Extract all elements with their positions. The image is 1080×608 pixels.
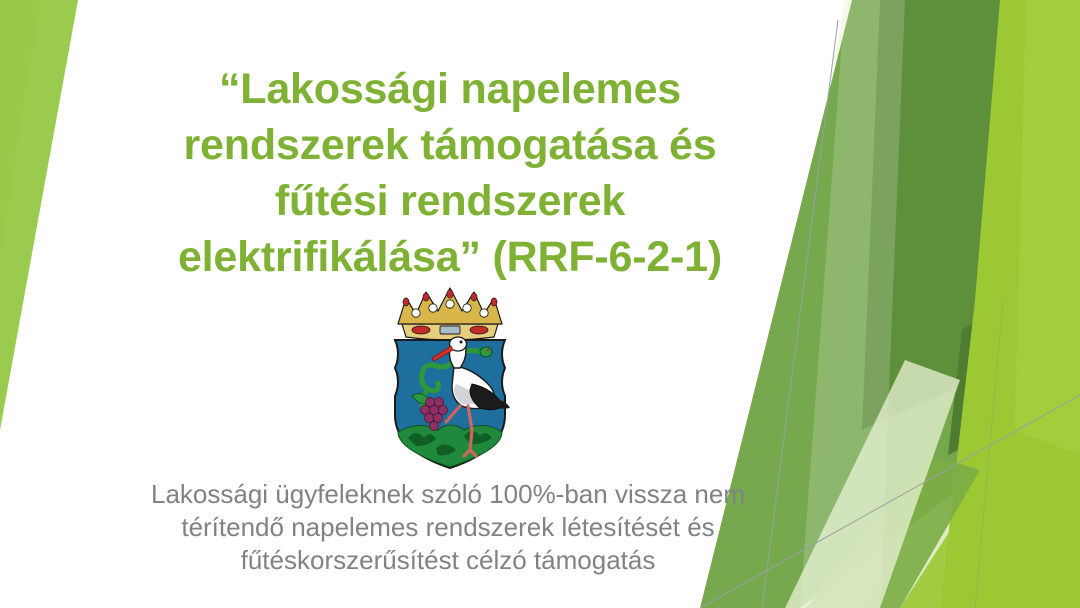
crown-center-jewel	[440, 326, 460, 334]
crown-pearl	[480, 309, 488, 317]
crown-pearl	[446, 300, 454, 308]
crown-band-gem	[412, 326, 430, 334]
crown-gem	[491, 298, 497, 306]
crown-pearl	[463, 304, 471, 312]
stork-eye	[460, 341, 463, 344]
crown-gem	[403, 298, 409, 306]
snake-eye	[487, 349, 490, 352]
presentation-slide: “Lakossági napelemes rendszerek támogatá…	[0, 0, 1080, 608]
crown-gem	[423, 293, 429, 301]
snake-head	[480, 347, 492, 357]
crown-gem	[447, 290, 453, 298]
page-title: “Lakossági napelemes rendszerek támogatá…	[120, 62, 780, 286]
title-placeholder: “Lakossági napelemes rendszerek támogatá…	[120, 62, 780, 286]
slide-content: “Lakossági napelemes rendszerek támogatá…	[0, 0, 1080, 608]
crown-gem	[471, 293, 477, 301]
crown-pearl	[412, 309, 420, 317]
shield	[395, 337, 510, 468]
coat-of-arms	[368, 280, 532, 472]
foliage	[398, 425, 502, 467]
crown-pearl	[429, 304, 437, 312]
coat-of-arms-icon	[368, 280, 532, 472]
crown-band-gem	[470, 326, 488, 334]
subtitle: Lakossági ügyfeleknek szóló 100%-ban vis…	[90, 478, 806, 577]
subtitle-placeholder: Lakossági ügyfeleknek szóló 100%-ban vis…	[90, 478, 806, 577]
crown-icon	[398, 288, 502, 340]
